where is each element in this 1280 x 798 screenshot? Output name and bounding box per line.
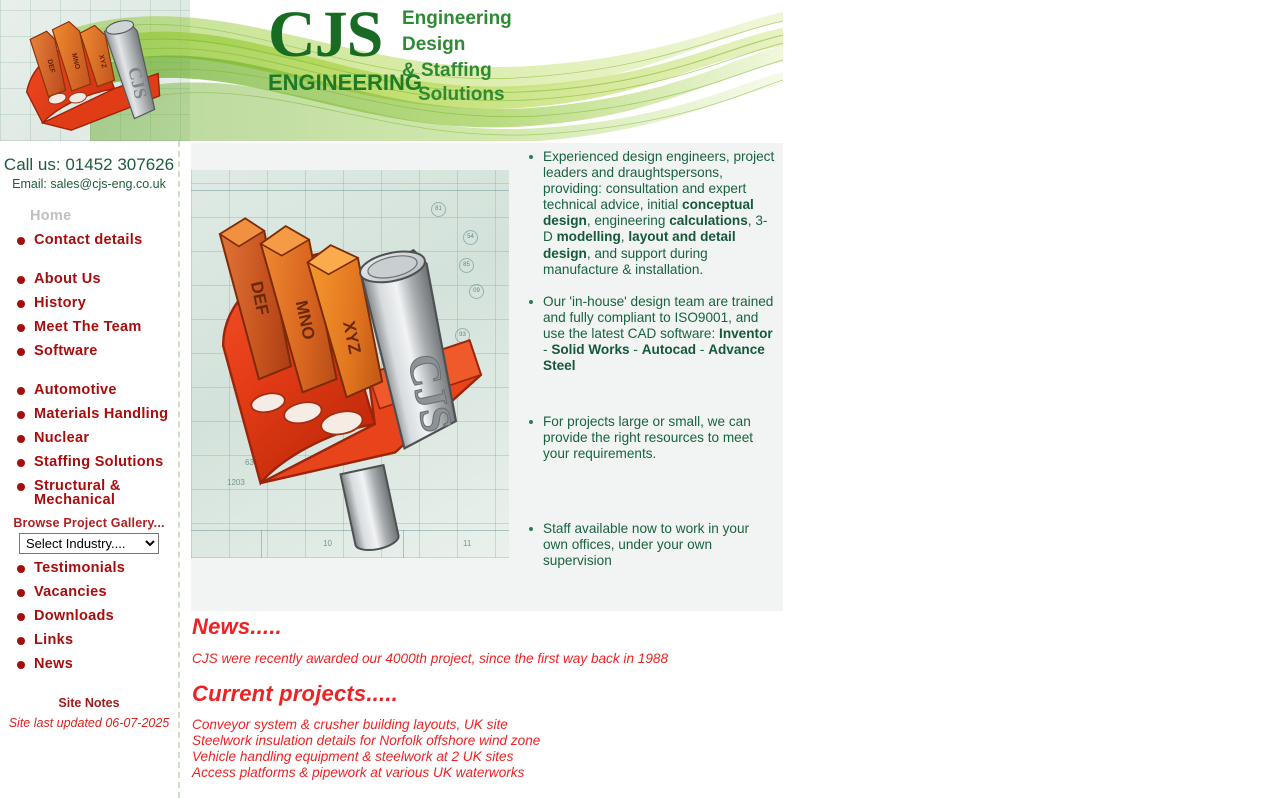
sidebar-item-downloads[interactable]: Downloads bbox=[0, 609, 178, 624]
sidebar-item-structural-mechanical[interactable]: Structural & Mechanical bbox=[0, 479, 178, 507]
news-section: News..... CJS were recently awarded our … bbox=[192, 611, 892, 781]
sidebar-item-label: News bbox=[34, 656, 73, 672]
call-us-text: Call us: 01452 307626 bbox=[0, 155, 178, 175]
project-line: Vehicle handling equipment & steelwork a… bbox=[192, 749, 892, 765]
bullet-icon bbox=[529, 155, 533, 159]
logo-tagline-1: Engineering bbox=[402, 8, 512, 30]
project-line: Conveyor system & crusher building layou… bbox=[192, 717, 892, 733]
cad-emblem-icon: DEF MNO XYZ CJS bbox=[6, 4, 191, 141]
header-banner: DEF MNO XYZ CJS CJS ENGINEERING Engineer… bbox=[0, 0, 783, 141]
project-line: Access platforms & pipework at various U… bbox=[192, 765, 892, 781]
bullet-icon bbox=[529, 420, 533, 424]
logo-tagline-2: Design bbox=[402, 34, 465, 56]
sidebar-item-label: Software bbox=[34, 343, 98, 359]
list-item: Our 'in-house' design team are trained a… bbox=[521, 294, 776, 374]
sidebar-item-label: Downloads bbox=[34, 608, 114, 624]
sidebar-item-materials-handling[interactable]: Materials Handling bbox=[0, 407, 178, 422]
nav-group-about: About Us History Meet The Team Software bbox=[0, 272, 178, 359]
bullet-icon bbox=[17, 661, 25, 669]
sidebar-item-about-us[interactable]: About Us bbox=[0, 272, 178, 287]
logo-cjs: CJS bbox=[268, 2, 382, 68]
sidebar-item-label: History bbox=[34, 295, 86, 311]
hero-cad-image: 81 54 85 09 93 40 10 11 630 1203 bbox=[191, 170, 509, 558]
sidebar-item-label: Staffing Solutions bbox=[34, 454, 163, 470]
bullet-icon bbox=[17, 459, 25, 467]
sidebar-item-nuclear[interactable]: Nuclear bbox=[0, 431, 178, 446]
sidebar-item-vacancies[interactable]: Vacancies bbox=[0, 585, 178, 600]
sidebar-item-news[interactable]: News bbox=[0, 657, 178, 672]
main-content-panel: 81 54 85 09 93 40 10 11 630 1203 bbox=[191, 143, 783, 611]
bullet-icon bbox=[17, 435, 25, 443]
project-line: Steelwork insulation details for Norfolk… bbox=[192, 733, 892, 749]
bullet-icon bbox=[529, 527, 533, 531]
sidebar-item-software[interactable]: Software bbox=[0, 344, 178, 359]
bullet-text-3: Staff available now to work in your own … bbox=[543, 521, 749, 568]
bullet-icon bbox=[17, 637, 25, 645]
bullet-icon bbox=[17, 348, 25, 356]
site-notes-title: Site Notes bbox=[0, 696, 178, 710]
sidebar-item-label: Nuclear bbox=[34, 430, 89, 446]
sidebar-item-testimonials[interactable]: Testimonials bbox=[0, 561, 178, 576]
sidebar-item-label: Materials Handling bbox=[34, 406, 168, 422]
bullet-text-2: For projects large or small, we can prov… bbox=[543, 414, 753, 461]
sidebar-item-label: Contact details bbox=[34, 232, 142, 248]
bullet-icon bbox=[17, 483, 25, 491]
bullet-icon bbox=[529, 300, 533, 304]
industry-select[interactable]: Select Industry.... bbox=[19, 533, 159, 554]
logo-tagline-3: & Staffing bbox=[402, 60, 492, 82]
news-body: CJS were recently awarded our 4000th pro… bbox=[192, 640, 892, 667]
nav-group-sectors: Automotive Materials Handling Nuclear St… bbox=[0, 383, 178, 507]
sidebar-item-meet-the-team[interactable]: Meet The Team bbox=[0, 320, 178, 335]
sidebar-item-label: Vacancies bbox=[34, 584, 107, 600]
service-bullet-list: Experienced design engineers, project le… bbox=[521, 143, 776, 569]
email-text: Email: sales@cjs-eng.co.uk bbox=[0, 177, 178, 191]
list-item: Experienced design engineers, project le… bbox=[521, 149, 776, 278]
logo-tagline-4: Solutions bbox=[418, 84, 505, 106]
site-updated-text: Site last updated 06-07-2025 bbox=[0, 716, 178, 730]
sidebar-item-automotive[interactable]: Automotive bbox=[0, 383, 178, 398]
news-body-text: CJS were recently awarded our 4000th pro… bbox=[192, 651, 892, 667]
news-heading: News..... bbox=[192, 611, 892, 640]
logo-engineering-word: ENGINEERING bbox=[268, 70, 422, 96]
sidebar-item-label: Links bbox=[34, 632, 73, 648]
bullet-text-0: Experienced design engineers, project le… bbox=[543, 149, 774, 277]
sidebar: Call us: 01452 307626 Email: sales@cjs-e… bbox=[0, 141, 180, 798]
sidebar-item-links[interactable]: Links bbox=[0, 633, 178, 648]
sidebar-item-label: Structural & Mechanical bbox=[34, 478, 121, 508]
bullet-icon bbox=[17, 237, 25, 245]
nav-group-resources: Testimonials Vacancies Downloads Links N… bbox=[0, 561, 178, 672]
bullet-icon bbox=[17, 324, 25, 332]
bullet-icon bbox=[17, 300, 25, 308]
bullet-icon bbox=[17, 411, 25, 419]
nav-group-primary: Home Contact details bbox=[0, 209, 178, 248]
list-item: For projects large or small, we can prov… bbox=[521, 414, 776, 462]
logo-text-block: CJS ENGINEERING Engineering Design & Sta… bbox=[268, 2, 568, 107]
sidebar-item-contact-details[interactable]: Contact details bbox=[0, 233, 178, 248]
cad-render-illustration: DEF MNO XYZ CJS bbox=[191, 170, 509, 558]
bullet-icon bbox=[17, 276, 25, 284]
sidebar-item-history[interactable]: History bbox=[0, 296, 178, 311]
bullet-icon bbox=[17, 613, 25, 621]
bullet-icon bbox=[17, 387, 25, 395]
gallery-label: Browse Project Gallery... bbox=[0, 516, 178, 530]
bullet-icon bbox=[17, 565, 25, 573]
nav-spacer bbox=[0, 368, 178, 383]
sidebar-item-label: Testimonials bbox=[34, 560, 125, 576]
sidebar-item-home[interactable]: Home bbox=[0, 209, 178, 224]
nav-spacer bbox=[0, 257, 178, 272]
current-projects-heading: Current projects..... bbox=[192, 667, 892, 707]
bullet-text-1: Our 'in-house' design team are trained a… bbox=[543, 294, 773, 373]
sidebar-item-label: Automotive bbox=[34, 382, 117, 398]
list-item: Staff available now to work in your own … bbox=[521, 521, 776, 569]
sidebar-item-label: About Us bbox=[34, 271, 101, 287]
current-projects-list: Conveyor system & crusher building layou… bbox=[192, 707, 892, 781]
bullet-icon bbox=[17, 589, 25, 597]
sidebar-item-label: Meet The Team bbox=[34, 319, 142, 335]
sidebar-item-staffing-solutions[interactable]: Staffing Solutions bbox=[0, 455, 178, 470]
